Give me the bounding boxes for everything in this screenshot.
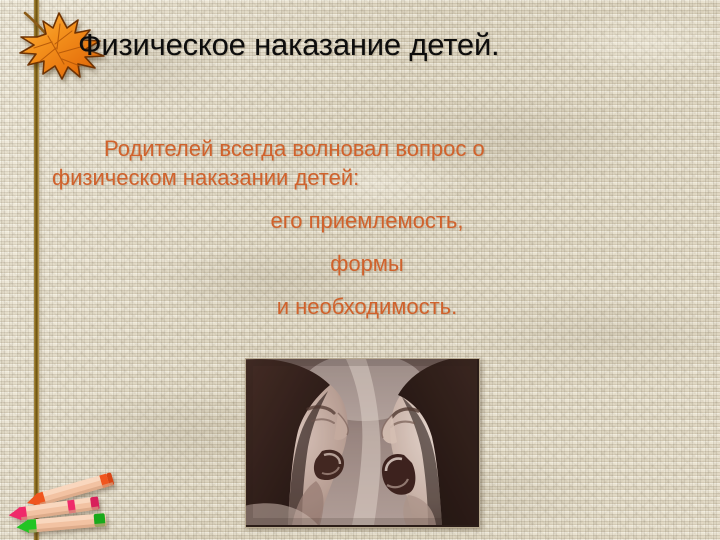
- body-text-block: Родителей всегда волновал вопрос о физич…: [52, 134, 682, 321]
- body-line-2: физическом наказании детей:: [52, 163, 682, 192]
- body-line-5: и необходимость.: [52, 292, 682, 321]
- body-line-3: его приемлемость,: [52, 206, 682, 235]
- slide-canvas: Физическое наказание детей. Родителей вс…: [0, 0, 720, 540]
- page-title: Физическое наказание детей.: [78, 28, 708, 62]
- body-line-1: Родителей всегда волновал вопрос о: [52, 134, 682, 163]
- body-line-4: формы: [52, 249, 682, 278]
- crayons-icon: [6, 466, 138, 540]
- vertical-rule: [34, 0, 39, 540]
- argument-photo: [245, 358, 480, 528]
